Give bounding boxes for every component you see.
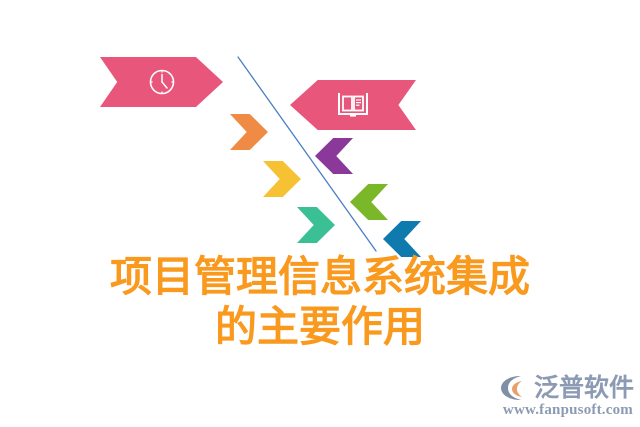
chevron-purple [315,138,353,174]
watermark-brand: 泛普软件 [534,375,634,401]
page-title: 项目管理信息系统集成 的主要作用 [0,252,640,352]
book-banner [290,80,416,130]
clock-icon [147,67,177,97]
chevron-teal [297,207,335,243]
watermark-logo: 泛普软件 www.fanpusoft.com [497,373,634,419]
chevron-yellow [263,161,301,197]
clock-banner [100,57,223,107]
poster-canvas: 项目管理信息系统集成 的主要作用 泛普软件 www.fanpusoft.com [0,0,640,427]
open-book-icon [336,90,370,121]
chevron-orange [230,114,268,150]
fanpu-logo-icon [497,373,531,403]
chevron-green [350,184,388,220]
watermark-url: www.fanpusoft.com [503,402,633,419]
page-title-line-1: 项目管理信息系统集成 [0,252,640,302]
page-title-line-2: 的主要作用 [0,302,640,352]
